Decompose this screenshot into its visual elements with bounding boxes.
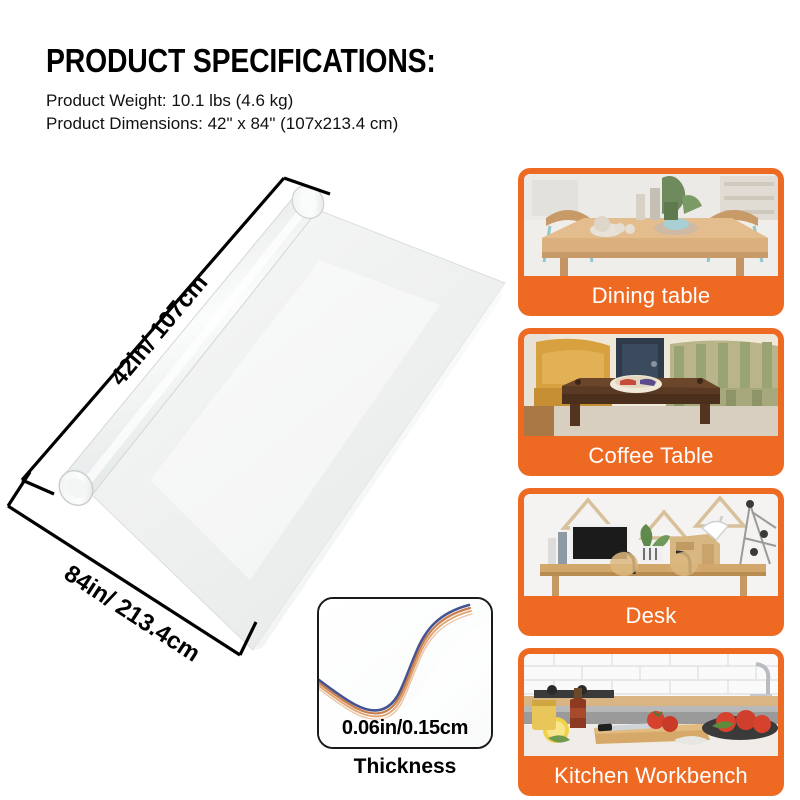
usage-card-caption: Desk	[524, 596, 778, 636]
thickness-label: Thickness	[312, 755, 498, 779]
thickness-callout: 0.06in/0.15cm Thickness	[312, 597, 498, 779]
thickness-value: 0.06in/0.15cm	[319, 717, 491, 740]
spec-row-weight: Product Weight: 10.1 lbs (4.6 kg)	[46, 89, 516, 112]
usage-card-coffee-table[interactable]: Coffee Table	[518, 328, 784, 476]
usage-card-kitchen-workbench[interactable]: Kitchen Workbench	[518, 648, 784, 796]
usage-card-caption: Dining table	[524, 276, 778, 316]
usage-card-caption: Coffee Table	[524, 436, 778, 476]
kitchen-workbench-photo	[524, 654, 778, 756]
specifications-header: PRODUCT SPECIFICATIONS: Product Weight: …	[46, 42, 516, 135]
desk-photo	[524, 494, 778, 596]
spec-row-dimensions: Product Dimensions: 42" x 84" (107x213.4…	[46, 112, 516, 135]
usage-card-dining-table[interactable]: Dining table	[518, 168, 784, 316]
page-title: PRODUCT SPECIFICATIONS:	[46, 42, 450, 80]
dining-table-photo	[524, 174, 778, 276]
usage-card-desk[interactable]: Desk	[518, 488, 784, 636]
usage-card-caption: Kitchen Workbench	[524, 756, 778, 796]
spec-list: Product Weight: 10.1 lbs (4.6 kg) Produc…	[46, 89, 516, 135]
product-spec-page: PRODUCT SPECIFICATIONS: Product Weight: …	[0, 0, 800, 800]
thickness-detail-box: 0.06in/0.15cm	[317, 597, 493, 749]
usage-scenario-list: Dining table	[518, 168, 784, 796]
coffee-table-photo	[524, 334, 778, 436]
